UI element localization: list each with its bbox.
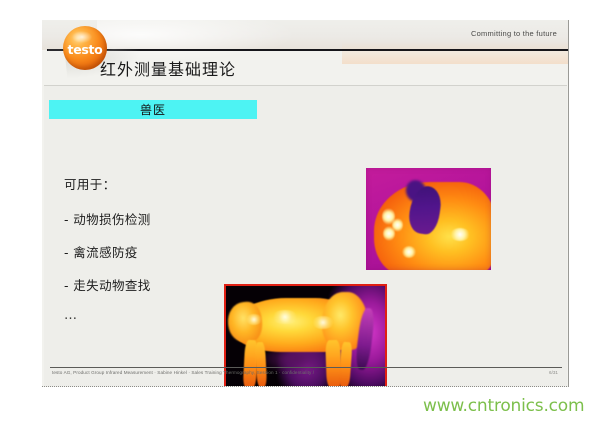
horse-hotspot-1 xyxy=(272,310,298,324)
slide-body: 兽医 可用于： - 动物损伤检测 - 禽流感防疫 - 走失动物查找 … xyxy=(44,85,567,386)
horse-hotspot-2 xyxy=(312,316,334,329)
site-watermark: www.cntronics.com xyxy=(423,396,584,416)
testo-logo: testo xyxy=(63,26,107,70)
header-warm-wash xyxy=(342,42,569,64)
logo-wordmark: testo xyxy=(63,42,107,57)
bullet-item-2: - 禽流感防疫 xyxy=(64,242,279,261)
bullet-item-1: - 动物损伤检测 xyxy=(64,209,279,228)
section-heading-bar: 兽医 xyxy=(49,100,257,119)
presentation-slide: Committing to the future testo 红外测量基础理论 … xyxy=(42,20,569,387)
section-heading-label: 兽医 xyxy=(140,101,166,118)
header-divider-rule xyxy=(47,49,569,51)
screenshot-root: Committing to the future testo 红外测量基础理论 … xyxy=(0,0,600,424)
footer-page-number: 6/31 xyxy=(549,370,558,375)
bullet-intro: 可用于： xyxy=(64,174,279,193)
cow-image-vignette xyxy=(366,168,491,270)
brand-tagline: Committing to the future xyxy=(471,29,557,38)
horse-hotspot-3 xyxy=(246,314,262,325)
footer-divider-rule xyxy=(50,367,562,368)
thermal-image-cow xyxy=(366,168,491,270)
slide-header-band: Committing to the future xyxy=(42,20,569,50)
footer-text: testo AG, Product Group Infrared Measure… xyxy=(52,370,314,375)
slide-title: 红外测量基础理论 xyxy=(100,56,236,80)
